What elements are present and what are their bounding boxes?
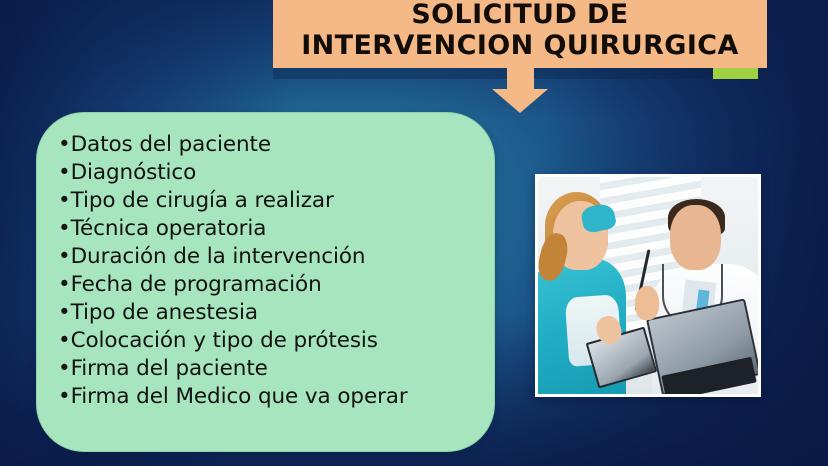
bullet-marker: • <box>58 188 71 213</box>
photo-doctor-head <box>670 205 721 270</box>
list-item: •Diagnóstico <box>58 159 488 187</box>
bullet-marker: • <box>58 244 71 269</box>
title-accent-bar <box>713 68 758 79</box>
list-item: •Fecha de programación <box>58 271 488 299</box>
list-item: •Tipo de cirugía a realizar <box>58 187 488 215</box>
down-arrow-icon <box>492 68 549 113</box>
bullet-marker: • <box>58 384 71 409</box>
list-item-label: Técnica operatoria <box>71 216 267 241</box>
list-item: •Firma del Medico que va operar <box>58 383 488 411</box>
clinical-photo <box>538 177 758 394</box>
list-item-label: Datos del paciente <box>71 132 271 157</box>
presentation-slide: SOLICITUD DE INTERVENCION QUIRURGICA •Da… <box>0 0 828 466</box>
title-banner: SOLICITUD DE INTERVENCION QUIRURGICA <box>273 0 767 68</box>
list-item-label: Firma del Medico que va operar <box>71 384 408 409</box>
title-line-2: INTERVENCION QUIRURGICA <box>301 30 739 61</box>
list-item-label: Fecha de programación <box>71 272 322 297</box>
bullet-marker: • <box>58 356 71 381</box>
list-item: •Datos del paciente <box>58 131 488 159</box>
title-line-1: SOLICITUD DE <box>411 0 628 30</box>
list-item-label: Tipo de anestesia <box>71 300 258 325</box>
down-arrow-stem <box>507 68 534 90</box>
bullet-marker: • <box>58 328 71 353</box>
bullet-marker: • <box>58 160 71 185</box>
bullet-marker: • <box>58 272 71 297</box>
bullet-marker: • <box>58 132 71 157</box>
bullet-marker: • <box>58 300 71 325</box>
list-item: •Tipo de anestesia <box>58 299 488 327</box>
down-arrow-head <box>492 89 548 113</box>
photo-doctor-hand <box>635 286 659 321</box>
list-item: •Técnica operatoria <box>58 215 488 243</box>
list-item-label: Diagnóstico <box>71 160 197 185</box>
list-item-label: Colocación y tipo de prótesis <box>71 328 378 353</box>
list-item: •Colocación y tipo de prótesis <box>58 327 488 355</box>
bullet-list: •Datos del paciente •Diagnóstico •Tipo d… <box>58 131 488 411</box>
bullet-marker: • <box>58 216 71 241</box>
photo-frame <box>535 174 761 397</box>
list-item-label: Tipo de cirugía a realizar <box>71 188 334 213</box>
list-item: •Firma del paciente <box>58 355 488 383</box>
list-item-label: Firma del paciente <box>71 356 268 381</box>
list-item: •Duración de la intervención <box>58 243 488 271</box>
list-item-label: Duración de la intervención <box>71 244 366 269</box>
